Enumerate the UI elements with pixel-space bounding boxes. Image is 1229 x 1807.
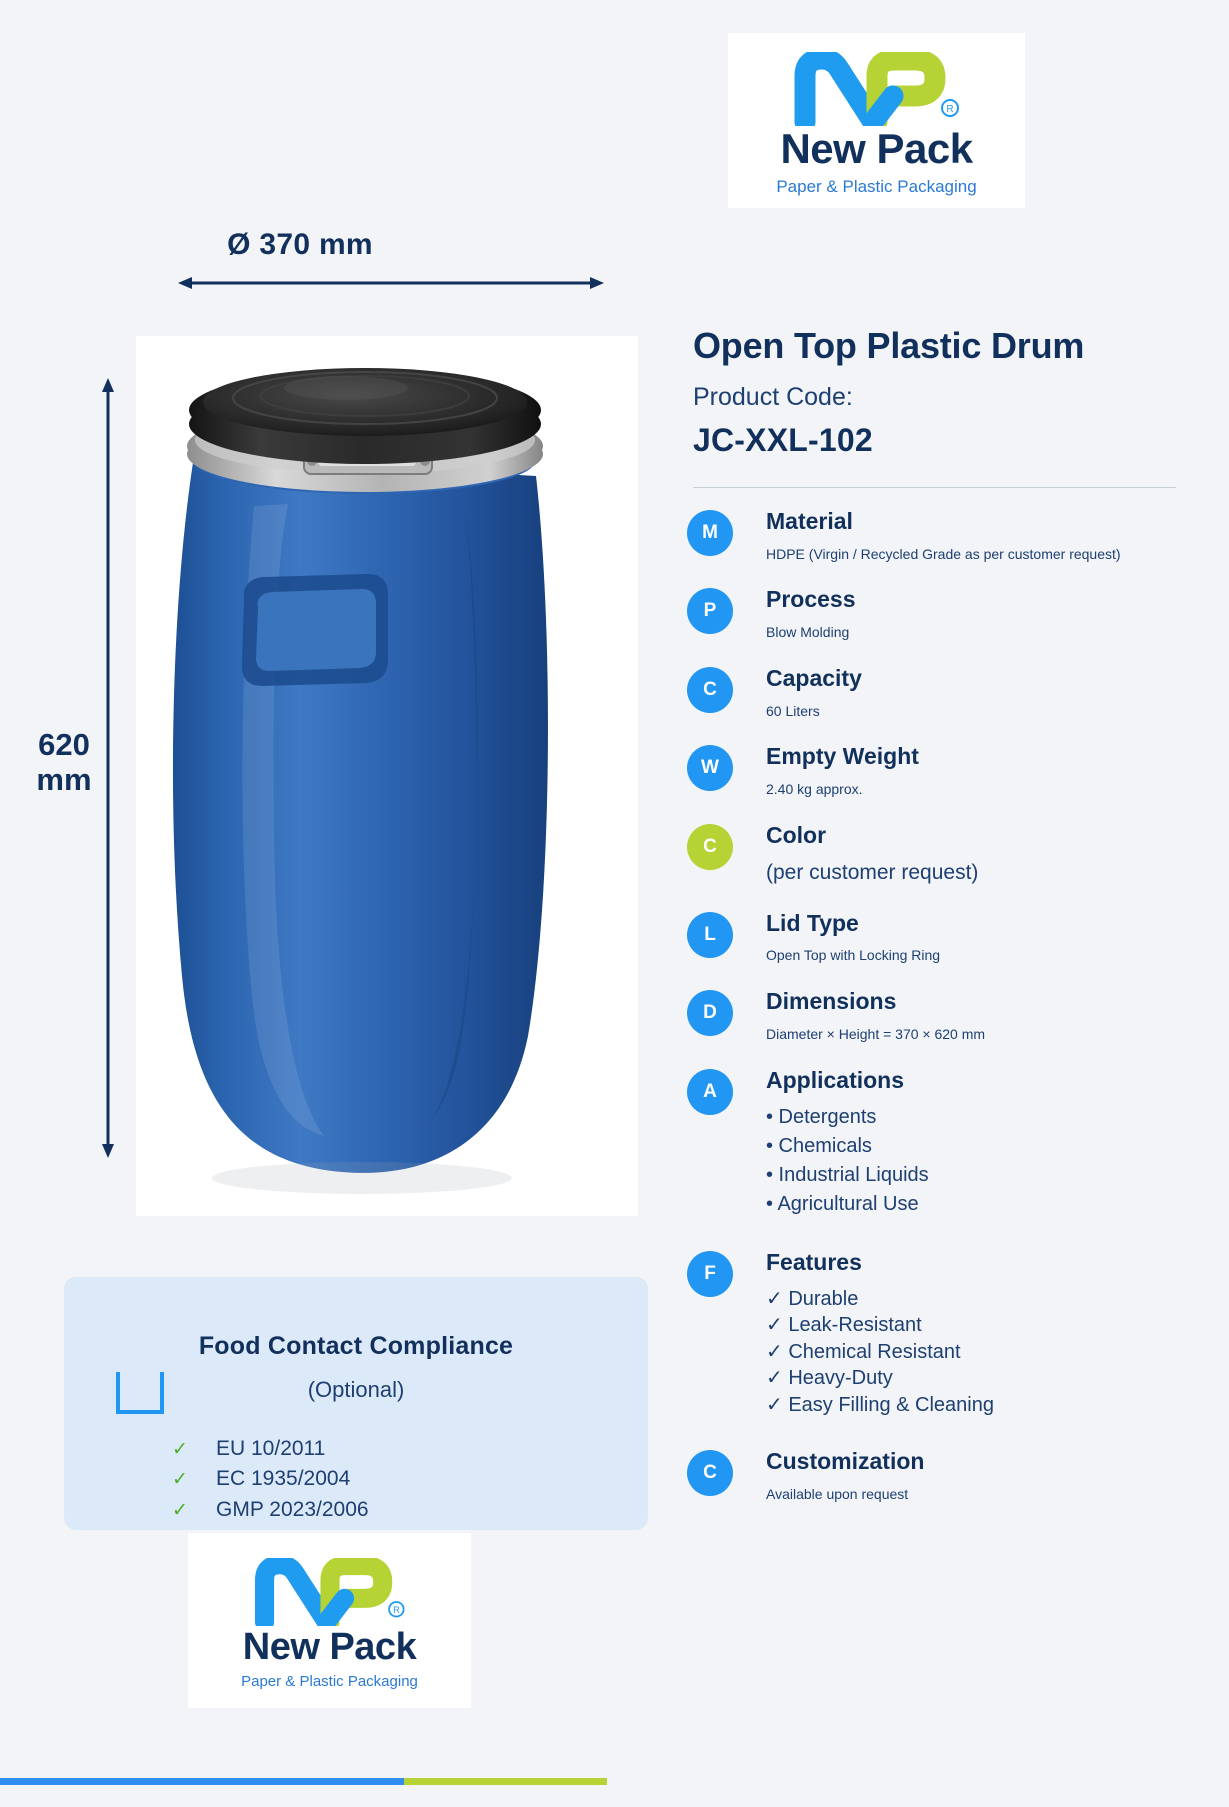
spec-title: Color xyxy=(766,822,1187,850)
list-item: ✓ Heavy-Duty xyxy=(766,1365,1187,1391)
height-unit: mm xyxy=(16,763,112,798)
check-icon: ✓ xyxy=(172,1436,216,1464)
spec-title: Material xyxy=(766,508,1187,536)
diameter-dimension-label: Ø 370 mm xyxy=(0,228,600,262)
spec-row-capacity: C Capacity 60 Liters xyxy=(687,665,1187,720)
compliance-subtitle: (Optional) xyxy=(64,1377,648,1403)
dimensions-badge-icon: D xyxy=(687,990,733,1036)
header-divider xyxy=(693,487,1176,488)
list-item: ✓ EU 10/2011 xyxy=(172,1434,369,1464)
spec-row-dimensions: D Dimensions Diameter × Height = 370 × 6… xyxy=(687,988,1187,1043)
brand-name-header: New Pack xyxy=(780,128,972,170)
height-arrow-icon xyxy=(100,378,116,1158)
list-item: ✓ Leak-Resistant xyxy=(766,1312,1187,1338)
spec-title: Dimensions xyxy=(766,988,1187,1016)
spec-title: Process xyxy=(766,586,1187,614)
spec-description: Diameter × Height = 370 × 620 mm xyxy=(766,1025,1187,1044)
material-badge-icon: M xyxy=(687,510,733,556)
customization-badge-icon: C xyxy=(687,1450,733,1496)
spec-description: 60 Liters xyxy=(766,702,1187,721)
height-dimension-label: 620 mm xyxy=(16,728,112,797)
spec-title: Lid Type xyxy=(766,910,1187,938)
product-image xyxy=(136,336,638,1216)
svg-text:R: R xyxy=(393,1605,400,1615)
np-monogram-icon: R xyxy=(789,52,965,126)
compliance-title: Food Contact Compliance xyxy=(64,1332,648,1361)
color-badge-icon: C xyxy=(687,824,733,870)
spec-title: Applications xyxy=(766,1067,1187,1095)
brand-tagline-header: Paper & Plastic Packaging xyxy=(776,178,976,195)
compliance-item-label: EU 10/2011 xyxy=(216,1434,325,1464)
applications-badge-icon: A xyxy=(687,1069,733,1115)
spec-title: Features xyxy=(766,1249,1187,1277)
spec-row-color: C Color (per customer request) xyxy=(687,822,1187,887)
plastic-drum-illustration xyxy=(136,336,638,1216)
compliance-item-label: EC 1935/2004 xyxy=(216,1464,350,1494)
footer-bar-green xyxy=(404,1778,607,1785)
process-badge-icon: P xyxy=(687,588,733,634)
brand-tagline-footer: Paper & Plastic Packaging xyxy=(241,1674,418,1689)
spec-description: (per customer request) xyxy=(766,859,1187,887)
spec-description: HDPE (Virgin / Recycled Grade as per cus… xyxy=(766,545,1187,564)
footer-accent-bars xyxy=(0,1778,1229,1785)
list-item: ✓ GMP 2023/2006 xyxy=(172,1495,369,1525)
list-item: ✓ EC 1935/2004 xyxy=(172,1464,369,1494)
compliance-list: ✓ EU 10/2011 ✓ EC 1935/2004 ✓ GMP 2023/2… xyxy=(172,1434,369,1525)
brand-name-footer: New Pack xyxy=(243,1628,416,1666)
food-contact-compliance-card: Food Contact Compliance (Optional) ✓ EU … xyxy=(64,1277,648,1530)
list-item: • Industrial Liquids xyxy=(766,1161,1187,1190)
diameter-arrow-icon xyxy=(178,275,604,291)
svg-text:R: R xyxy=(946,104,953,115)
specification-list: M Material HDPE (Virgin / Recycled Grade… xyxy=(687,508,1187,1526)
compliance-item-label: GMP 2023/2006 xyxy=(216,1495,369,1525)
list-item: ✓ Easy Filling & Cleaning xyxy=(766,1392,1187,1418)
spec-description: Open Top with Locking Ring xyxy=(766,946,1187,965)
list-item: • Agricultural Use xyxy=(766,1190,1187,1219)
spec-title: Customization xyxy=(766,1448,1187,1476)
lid-badge-icon: L xyxy=(687,912,733,958)
check-icon: ✓ xyxy=(172,1466,216,1494)
capacity-badge-icon: C xyxy=(687,667,733,713)
spec-row-features: F Features ✓ Durable ✓ Leak-Resistant ✓ … xyxy=(687,1249,1187,1418)
check-icon: ✓ xyxy=(172,1497,216,1525)
spec-description: 2.40 kg approx. xyxy=(766,780,1187,799)
height-value: 620 xyxy=(16,728,112,763)
features-list: ✓ Durable ✓ Leak-Resistant ✓ Chemical Re… xyxy=(766,1286,1187,1418)
spec-row-customization: C Customization Available upon request xyxy=(687,1448,1187,1503)
spec-row-process: P Process Blow Molding xyxy=(687,586,1187,641)
spec-row-applications: A Applications • Detergents • Chemicals … xyxy=(687,1067,1187,1220)
np-monogram-icon: R xyxy=(250,1558,410,1626)
spec-row-material: M Material HDPE (Virgin / Recycled Grade… xyxy=(687,508,1187,563)
page-title: Open Top Plastic Drum xyxy=(693,325,1084,367)
brand-logo-header: R New Pack Paper & Plastic Packaging xyxy=(728,33,1025,208)
product-code-value: JC-XXL-102 xyxy=(693,422,873,459)
list-item: ✓ Chemical Resistant xyxy=(766,1339,1187,1365)
applications-list: • Detergents • Chemicals • Industrial Li… xyxy=(766,1103,1187,1219)
product-code-label: Product Code: xyxy=(693,383,853,412)
spec-title: Empty Weight xyxy=(766,743,1187,771)
spec-description: Available upon request xyxy=(766,1485,1187,1504)
list-item: ✓ Durable xyxy=(766,1286,1187,1312)
spec-title: Capacity xyxy=(766,665,1187,693)
spec-description: Blow Molding xyxy=(766,623,1187,642)
brand-logo-footer: R New Pack Paper & Plastic Packaging xyxy=(188,1533,471,1708)
spec-row-empty-weight: W Empty Weight 2.40 kg approx. xyxy=(687,743,1187,798)
list-item: • Chemicals xyxy=(766,1132,1187,1161)
footer-bar-blue xyxy=(0,1778,404,1785)
spec-row-lid-type: L Lid Type Open Top with Locking Ring xyxy=(687,910,1187,965)
features-badge-icon: F xyxy=(687,1251,733,1297)
list-item: • Detergents xyxy=(766,1103,1187,1132)
weight-badge-icon: W xyxy=(687,745,733,791)
